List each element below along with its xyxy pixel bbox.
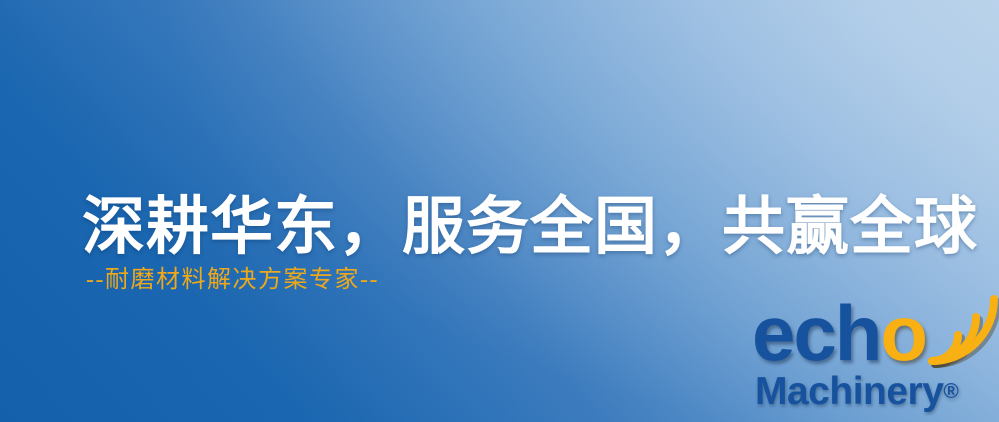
- logo-wordmark-ech: ech: [752, 289, 880, 377]
- logo-wordmark: echo: [752, 294, 926, 372]
- logo-wordmark-o: o: [880, 289, 926, 377]
- banner-headline: 深耕华东，服务全国，共赢全球: [82, 194, 978, 260]
- company-logo[interactable]: echo Machinery®: [752, 294, 992, 422]
- logo-brand: Machinery®: [755, 370, 959, 414]
- hero-banner: 深耕华东，服务全国，共赢全球 --耐磨材料解决方案专家-- echo Machi…: [0, 0, 999, 422]
- banner-subtitle: --耐磨材料解决方案专家--: [86, 266, 379, 295]
- registered-trademark-icon: ®: [943, 380, 958, 403]
- echo-waves-icon: [924, 293, 999, 369]
- logo-brand-text: Machinery: [755, 370, 943, 413]
